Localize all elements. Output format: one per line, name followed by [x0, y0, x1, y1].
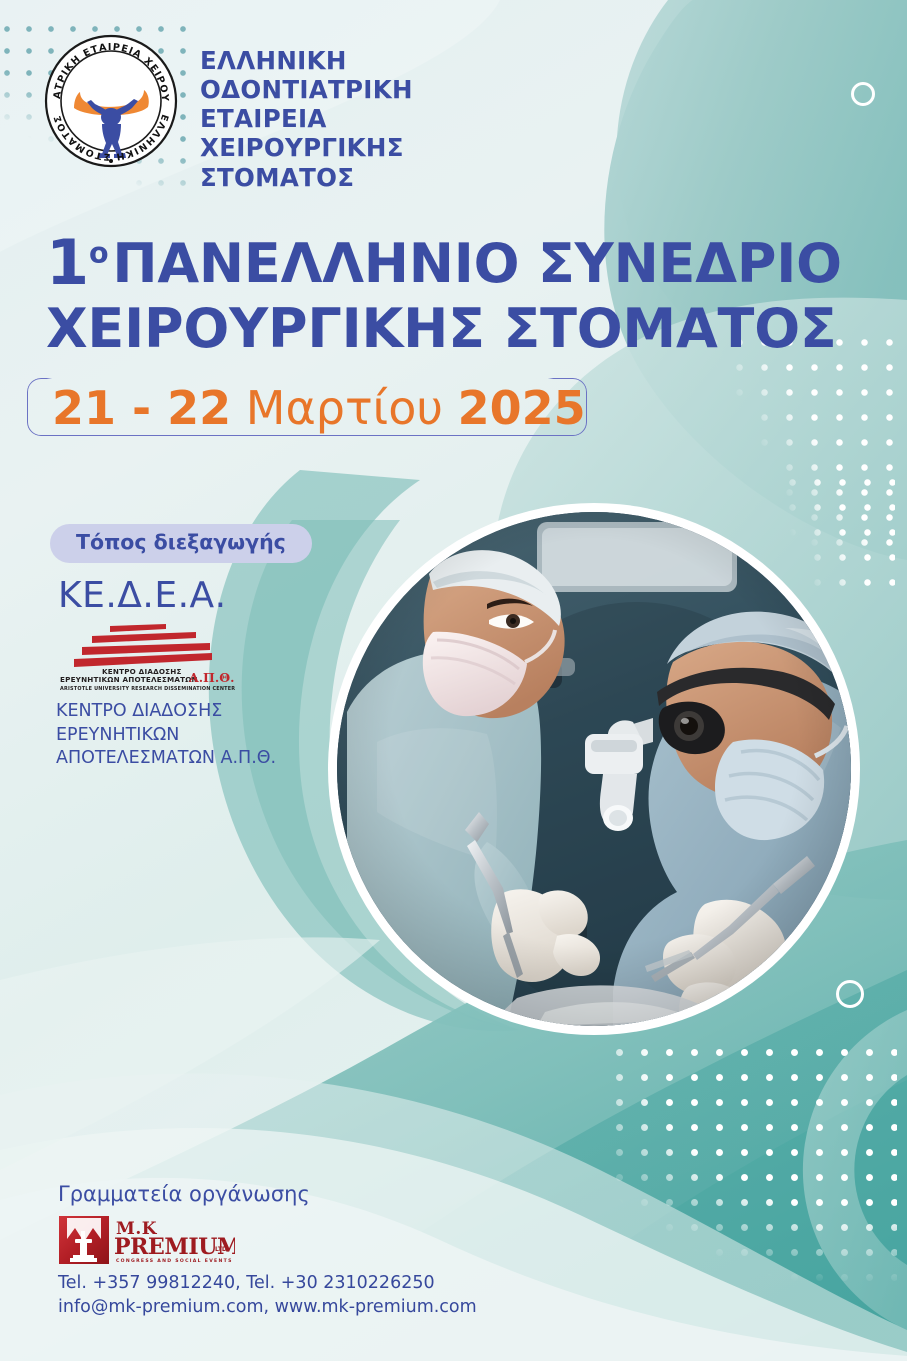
- ordinal-suffix: ο: [89, 236, 108, 269]
- title-line-2: ΧΕΙΡΟΥΡΓΙΚΗΣ ΣΤΟΜΑΤΟΣ: [46, 300, 866, 357]
- date-month-spacer: [231, 381, 246, 435]
- surgery-photo: [337, 512, 851, 1026]
- venue-short-name: ΚΕ.Δ.Ε.Α.: [58, 578, 227, 614]
- venue-label-badge: Τόπος διεξαγωγής: [50, 524, 312, 563]
- society-emblem-logo: ΟΔΟΝΤΙΑΤΡΙΚΗ ΕΤΑΙΡΕΙΑ ΧΕΙΡΟΥΡΓΙΚΗΣ ΕΛΛΗΝ…: [44, 34, 178, 168]
- conference-poster: ΟΔΟΝΤΙΑΤΡΙΚΗ ΕΤΑΙΡΕΙΑ ΧΕΙΡΟΥΡΓΙΚΗΣ ΕΛΛΗΝ…: [0, 0, 907, 1361]
- date-year: 2025: [458, 381, 586, 435]
- surgery-photo-illustration: [337, 512, 851, 1026]
- secretariat-label: Γραμματεία οργάνωσης: [58, 1184, 477, 1205]
- kedea-logo: ΚΕΝΤΡΟ ΔΙΑΔΟΣΗΣ ΕΡΕΥΝΗΤΙΚΩΝ ΑΠΟΤΕΛΕΣΜΑΤΩ…: [58, 622, 238, 694]
- dot-grid-bottom-right: [607, 1040, 897, 1330]
- kedea-logo-abbr: Α.Π.Θ.: [188, 670, 234, 685]
- circle-outline-icon-bottom: [836, 980, 864, 1008]
- kedea-logo-line2: ΕΡΕΥΝΗΤΙΚΩΝ ΑΠΟΤΕΛΕΣΜΑΤΩΝ: [60, 675, 198, 684]
- date-days: 21 - 22: [52, 381, 231, 435]
- poster-footer: Γραμματεία οργάνωσης M.K PREMIUM LTD CON…: [58, 1184, 477, 1319]
- contact-info: Tel. +357 99812240, Tel. +30 2310226250 …: [58, 1272, 477, 1319]
- title-text-1: ΠΑΝΕΛΛΗΝΙΟ ΣΥΝΕΔΡΙΟ: [112, 232, 841, 295]
- conference-title: 1οΠΑΝΕΛΛΗΝΙΟ ΣΥΝΕΔΡΙΟ ΧΕΙΡΟΥΡΓΙΚΗΣ ΣΤΟΜΑ…: [46, 228, 866, 357]
- ordinal-digit: 1: [46, 226, 89, 299]
- kedea-logo-stripes: [74, 624, 212, 667]
- kedea-logo-subtitle: ARISTOTLE UNIVERSITY RESEARCH DISSEMINAT…: [60, 686, 235, 692]
- mk-logo-tagline: CONGRESS AND SOCIAL EVENTS: [116, 1258, 233, 1264]
- ordinal-number: 1ο: [46, 226, 108, 299]
- date-month: Μαρτίου: [246, 381, 443, 435]
- photo-frame: [328, 503, 860, 1035]
- conference-date: 21 - 22 Μαρτίου 2025: [52, 380, 586, 436]
- dot-grid-photo-top: [755, 470, 895, 590]
- mk-logo-ltd: LTD: [215, 1246, 227, 1253]
- poster-header: ΟΔΟΝΤΙΑΤΡΙΚΗ ΕΤΑΙΡΕΙΑ ΧΕΙΡΟΥΡΓΙΚΗΣ ΕΛΛΗΝ…: [44, 34, 413, 192]
- mk-premium-logo: M.K PREMIUM LTD CONGRESS AND SOCIAL EVEN…: [59, 1215, 235, 1267]
- venue-full-name: ΚΕΝΤΡΟ ΔΙΑΔΟΣΗΣ ΕΡΕΥΝΗΤΙΚΩΝ ΑΠΟΤΕΛΕΣΜΑΤΩ…: [56, 700, 276, 771]
- organization-name: ΕΛΛΗΝΙΚΗ ΟΔΟΝΤΙΑΤΡΙΚΗ ΕΤΑΙΡΕΙΑ ΧΕΙΡΟΥΡΓΙ…: [200, 46, 413, 192]
- title-line-1: 1οΠΑΝΕΛΛΗΝΙΟ ΣΥΝΕΔΡΙΟ: [46, 228, 866, 294]
- circle-outline-icon-top: [851, 82, 875, 106]
